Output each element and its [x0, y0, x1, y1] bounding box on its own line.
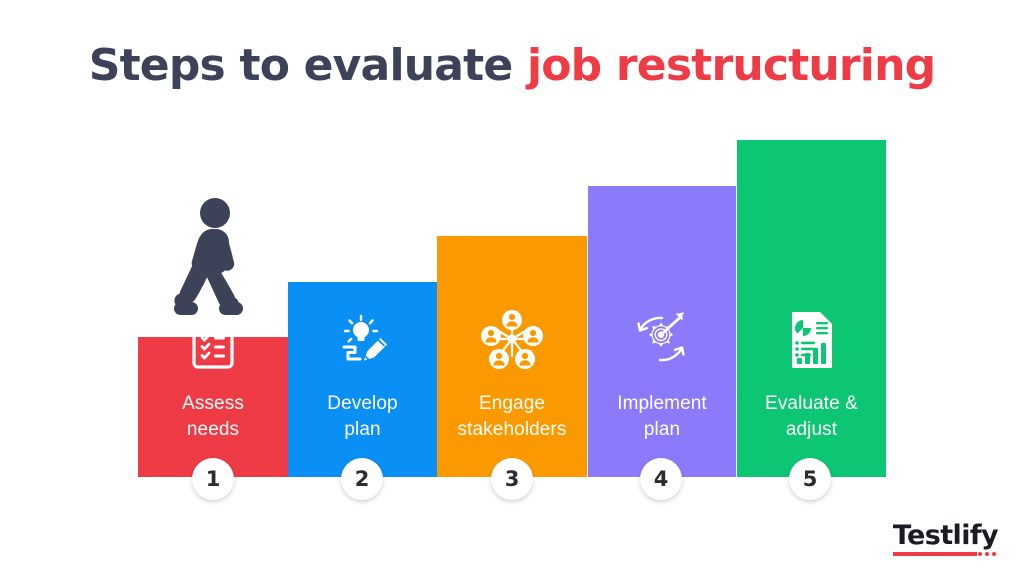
step-badge-3: 3: [491, 458, 533, 500]
step-badge-1: 1: [192, 458, 234, 500]
testlify-logo[interactable]: Testlify: [893, 522, 998, 556]
bar-step-5-label: Evaluate & adjust: [765, 391, 858, 443]
step-badge-2: 2: [341, 458, 383, 500]
bar-step-1-label: Assess needs: [182, 391, 244, 443]
people-network-icon: [476, 308, 548, 375]
testlify-logo-text: Testlify: [893, 522, 998, 550]
step-badge-3-number: 3: [505, 467, 520, 491]
bar-step-1-content: Assess needs: [138, 318, 288, 443]
bar-step-3[interactable]: Engage stakeholders: [437, 236, 587, 477]
report-chart-document-icon: [786, 310, 838, 375]
step-badge-4: 4: [640, 458, 682, 500]
step-badge-5-number: 5: [803, 467, 818, 491]
bar-step-4-label: Implement plan: [617, 391, 707, 443]
lightbulb-pencil-icon: [334, 314, 392, 375]
testlify-logo-dots: [978, 552, 996, 556]
bar-step-5[interactable]: Evaluate & adjust: [737, 140, 886, 477]
bar-step-2-label: Develop plan: [327, 391, 397, 443]
step-badge-1-number: 1: [206, 467, 221, 491]
step-badge-2-number: 2: [355, 467, 370, 491]
walking-person-icon: [173, 196, 257, 336]
bar-step-4[interactable]: Implement plan: [588, 186, 736, 477]
bar-step-2-content: Develop plan: [288, 314, 437, 443]
bar-step-5-content: Evaluate & adjust: [737, 310, 886, 443]
steps-bar-chart: Assess needs: [0, 0, 1024, 576]
bar-step-3-label: Engage stakeholders: [458, 391, 567, 443]
bar-step-3-content: Engage stakeholders: [437, 308, 587, 443]
bar-step-2[interactable]: Develop plan: [288, 282, 437, 477]
step-badge-4-number: 4: [654, 467, 669, 491]
testlify-logo-underline: [893, 552, 977, 556]
gear-target-arrow-icon: [629, 308, 695, 375]
bar-step-1[interactable]: Assess needs: [138, 337, 288, 477]
step-badge-5: 5: [789, 458, 831, 500]
bar-step-4-content: Implement plan: [588, 308, 736, 443]
